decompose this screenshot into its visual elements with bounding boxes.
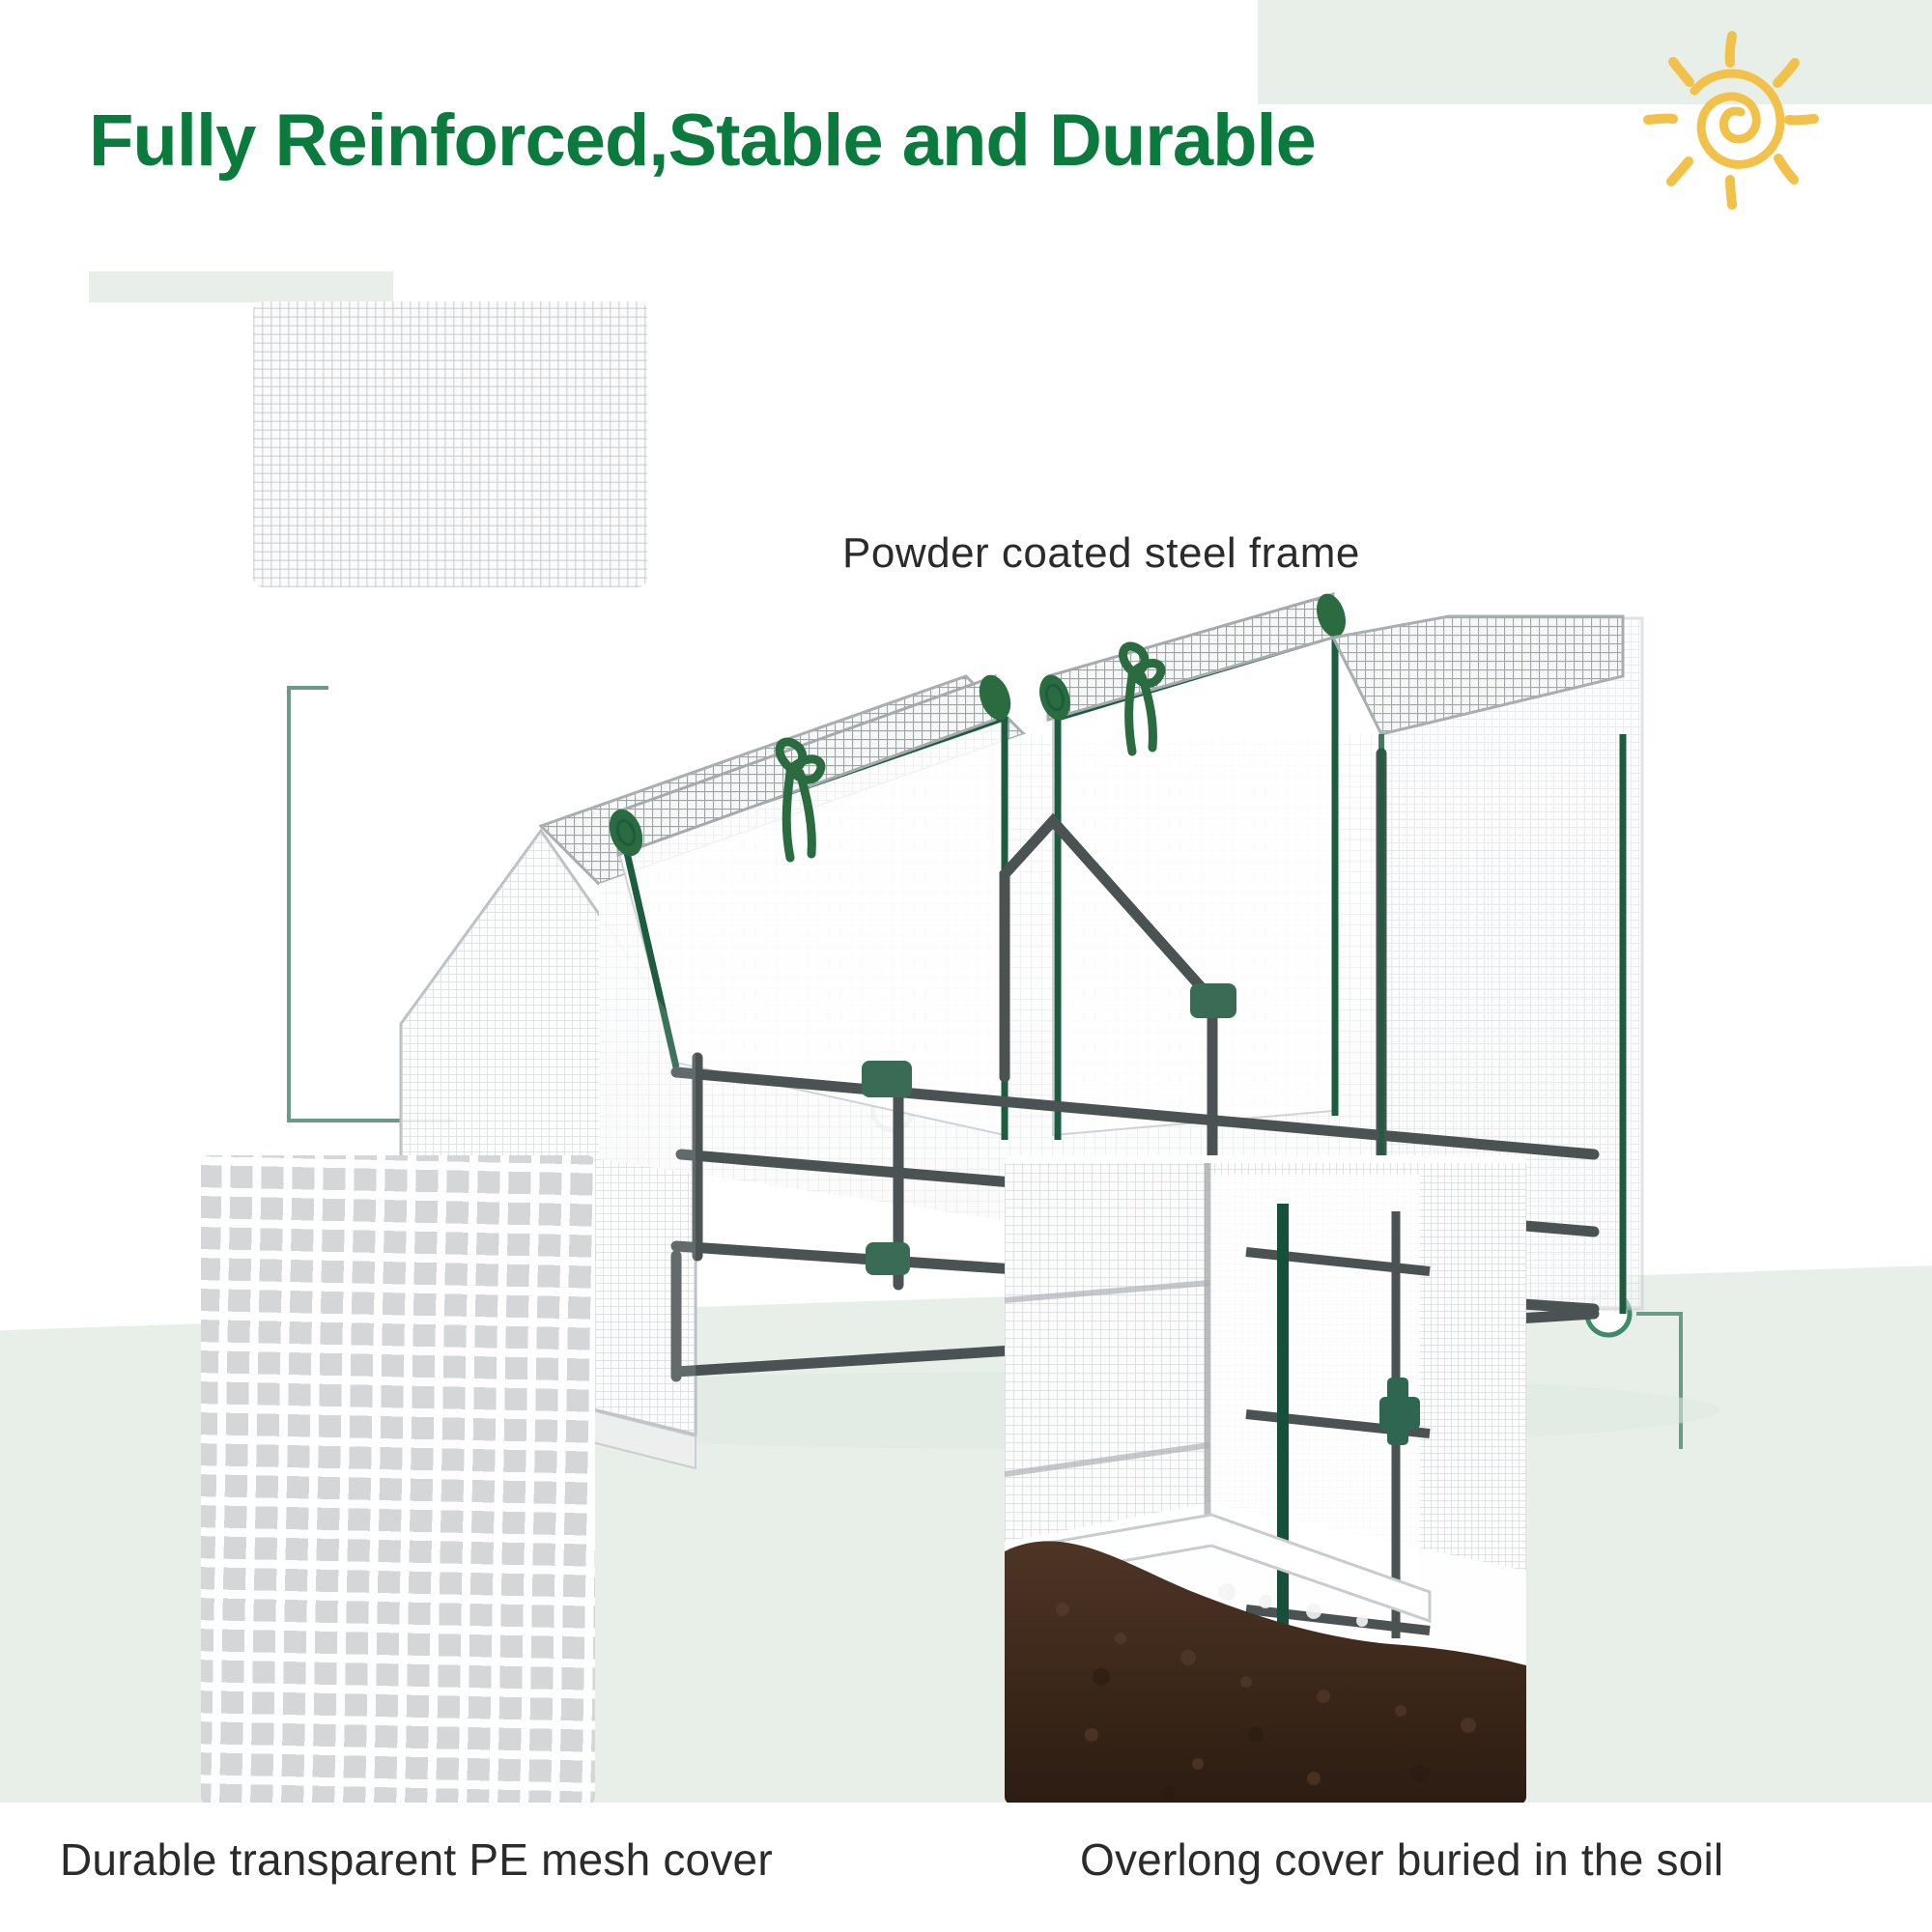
cover-buried-in-soil-photo [1005, 1155, 1526, 1804]
mesh-texture [253, 301, 647, 587]
buried-cover-graphic [1005, 1155, 1526, 1804]
infographic-canvas: Fully Reinforced,Stable and Durable [0, 0, 1932, 1932]
caption-buried-cover: Overlong cover buried in the soil [1080, 1833, 1723, 1886]
steel-frame-connector-photo [253, 301, 647, 587]
pe-mesh-texture [201, 1155, 595, 1804]
pe-mesh-closeup-photo [201, 1155, 595, 1804]
powder-coated-steel-frame-label: Powder coated steel frame [842, 529, 1360, 578]
caption-pe-mesh-cover: Durable transparent PE mesh cover [60, 1833, 773, 1886]
